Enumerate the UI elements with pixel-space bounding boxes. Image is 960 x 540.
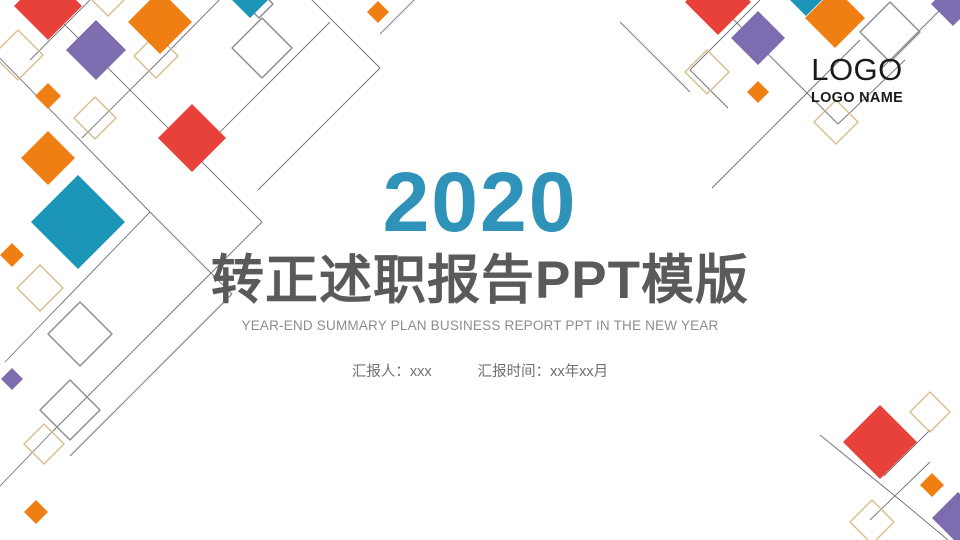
diamond-red (685, 0, 751, 35)
connector-line (30, 0, 100, 60)
diamond-orange (128, 0, 192, 54)
outline-diamond-cream (814, 100, 858, 144)
year-title: 2020 (0, 160, 960, 244)
connector-line (870, 462, 930, 520)
meta-row: 汇报人：xxx 汇报时间：xx年xx月 (0, 360, 960, 381)
diamond-purple (931, 0, 960, 26)
connector-line (26, 0, 112, 72)
presenter-label: 汇报人：xxx (352, 360, 432, 381)
connector-line (690, 70, 728, 108)
outline-diamond-cream (74, 97, 116, 139)
diamond-orange-sm (24, 500, 48, 524)
page-title: 转正述职报告PPT模版 (0, 252, 960, 310)
outline-diamond-cream (850, 500, 894, 540)
connector-line (690, 0, 760, 70)
logo-block: LOGO LOGO NAME (772, 54, 942, 106)
diamond-orange-sm (367, 1, 389, 23)
connector-line (262, 22, 330, 90)
connector-line (820, 435, 900, 500)
title-stack: 2020 转正述职报告PPT模版 YEAR-END SUMMARY PLAN B… (0, 160, 960, 381)
connector-line (884, 430, 930, 476)
connector-line (300, 0, 380, 68)
diamond-purple (66, 20, 126, 80)
subtitle: YEAR-END SUMMARY PLAN BUSINESS REPORT PP… (0, 319, 960, 333)
connector-line (620, 22, 690, 92)
diamond-red (14, 0, 82, 40)
outline-diamond-gray (245, 0, 273, 18)
outline-diamond-cream (24, 424, 64, 464)
outline-diamond-cream (0, 30, 43, 80)
connector-line (0, 432, 52, 486)
outline-diamond-gray (232, 18, 292, 78)
connector-line (380, 0, 420, 34)
diamond-orange-sm (920, 473, 944, 497)
connector-line (900, 500, 948, 540)
connector-line (320, 68, 380, 128)
logo-primary-text: LOGO (772, 54, 942, 85)
outline-diamond-cream (685, 50, 729, 94)
diamond-orange-sm (35, 83, 61, 109)
presentation-slide: LOGO LOGO NAME 2020 转正述职报告PPT模版 YEAR-END… (0, 0, 960, 540)
diamond-teal (790, 0, 822, 16)
outline-diamond-cream (910, 392, 950, 432)
diamond-purple (932, 492, 960, 540)
diamond-orange-sm (747, 81, 769, 103)
diamond-orange (805, 0, 865, 48)
logo-secondary-text: LOGO NAME (772, 91, 942, 106)
diamond-teal (232, 0, 268, 18)
connector-line (160, 0, 235, 60)
diamond-red (843, 405, 917, 479)
outline-diamond-cream (92, 0, 124, 16)
connector-line (112, 72, 196, 156)
connector-line (196, 90, 262, 156)
connector-line (70, 410, 116, 456)
outline-diamond-cream (134, 34, 178, 78)
outline-diamond-gray (40, 380, 100, 440)
connector-line (82, 60, 160, 138)
connector-line (700, 0, 770, 56)
report-time-label: 汇报时间：xx年xx月 (478, 360, 609, 381)
